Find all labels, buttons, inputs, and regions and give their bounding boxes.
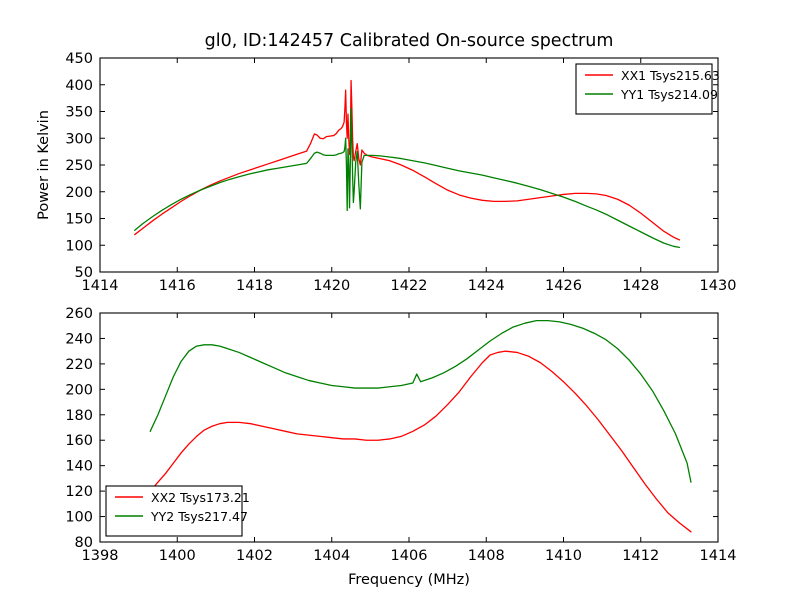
y-axis-label: Power in Kelvin [36, 110, 52, 220]
spectrum-plot: 1414141614181420142214241426142814305010… [0, 0, 800, 600]
x-tick-label: 1412 [622, 548, 659, 564]
y-tick-label: 100 [65, 510, 93, 526]
x-tick-label: 1418 [236, 278, 273, 294]
x-tick-label: 1410 [545, 548, 582, 564]
x-tick-label: 1404 [313, 548, 350, 564]
x-tick-label: 1430 [700, 278, 737, 294]
x-tick-label: 1402 [236, 548, 273, 564]
legend-label-xx1: XX1 Tsys215.63 [621, 68, 720, 83]
legend-top-panel[interactable]: XX1 Tsys215.63YY1 Tsys214.09 [576, 64, 720, 114]
y-tick-label: 350 [65, 105, 93, 121]
y-tick-label: 100 [65, 238, 93, 254]
legend-label-xx2: XX2 Tsys173.21 [151, 490, 250, 505]
y-tick-label: 250 [65, 158, 93, 174]
x-tick-label: 1426 [545, 278, 582, 294]
y-tick-label: 140 [65, 459, 93, 475]
x-tick-label: 1408 [468, 548, 505, 564]
x-tick-label: 1428 [622, 278, 659, 294]
legend-label-yy1: YY1 Tsys214.09 [620, 87, 718, 102]
y-tick-label: 260 [65, 306, 93, 322]
legend-label-yy2: YY2 Tsys217.47 [150, 509, 248, 524]
y-tick-label: 240 [65, 331, 93, 347]
legend-bottom-panel[interactable]: XX2 Tsys173.21YY2 Tsys217.47 [106, 486, 250, 536]
y-tick-label: 150 [65, 212, 93, 228]
y-tick-label: 200 [65, 185, 93, 201]
panel-top-panel: 1414141614181420142214241426142814305010… [36, 31, 736, 294]
x-tick-label: 1422 [391, 278, 428, 294]
x-tick-label: 1400 [159, 548, 196, 564]
y-tick-label: 160 [65, 433, 93, 449]
y-tick-label: 220 [65, 357, 93, 373]
y-tick-label: 300 [65, 131, 93, 147]
x-tick-label: 1424 [468, 278, 505, 294]
y-tick-label: 120 [65, 484, 93, 500]
panel-bottom-panel: 1398140014021404140614081410141214148010… [65, 306, 736, 588]
x-axis-label: Frequency (MHz) [348, 572, 470, 588]
x-tick-label: 1420 [313, 278, 350, 294]
y-tick-label: 450 [65, 51, 93, 67]
y-tick-label: 200 [65, 382, 93, 398]
y-tick-label: 400 [65, 78, 93, 94]
plot-title: gl0, ID:142457 Calibrated On-source spec… [205, 31, 614, 51]
y-tick-label: 80 [75, 535, 93, 551]
figure-canvas: 1414141614181420142214241426142814305010… [0, 0, 800, 600]
x-tick-label: 1416 [159, 278, 196, 294]
y-tick-label: 50 [75, 265, 93, 281]
x-tick-label: 1406 [391, 548, 428, 564]
x-tick-label: 1414 [700, 548, 737, 564]
y-tick-label: 180 [65, 408, 93, 424]
